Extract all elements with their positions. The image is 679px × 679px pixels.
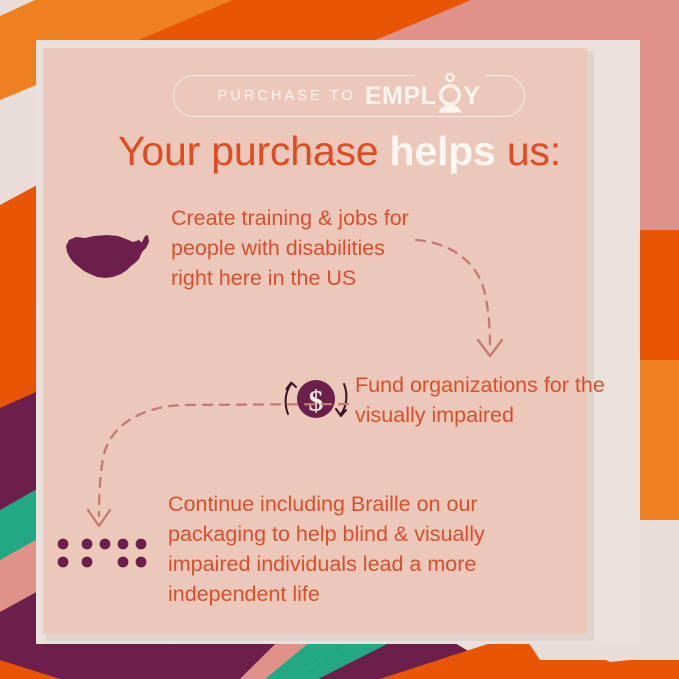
poster-root: PURCHASE TO EMPL Y Your purchase helps u… — [0, 0, 679, 679]
employ-person-o-icon — [436, 83, 463, 110]
badge-big-text: EMPL Y — [365, 82, 481, 111]
item-text-fund-organizations: Fund organizations for the visually impa… — [355, 370, 620, 430]
headline-part2: us: — [496, 128, 561, 174]
dashed-arrow-down-right-icon — [414, 234, 524, 364]
braille-dots-icon — [56, 536, 150, 570]
headline-part1: Your purchase — [118, 128, 390, 174]
page-headline: Your purchase helps us: — [0, 128, 679, 175]
item-text-training-jobs: Create training & jobs for people with d… — [171, 203, 421, 293]
item-text-braille-packaging: Continue including Braille on our packag… — [168, 489, 568, 609]
badge-text-wrap: PURCHASE TO EMPL Y — [173, 75, 525, 117]
badge-small-text: PURCHASE TO — [218, 88, 365, 104]
purchase-to-employ-badge: PURCHASE TO EMPL Y — [173, 75, 525, 117]
badge-big-text-before: EMPL — [365, 82, 436, 111]
headline-highlight: helps — [390, 128, 496, 174]
us-map-icon — [63, 230, 158, 282]
